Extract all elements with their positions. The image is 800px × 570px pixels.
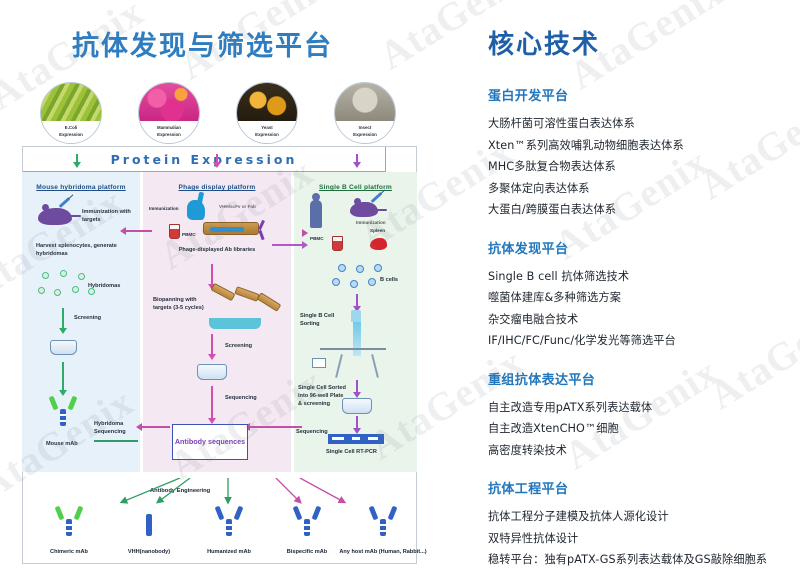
protein-expression-label: Protein Expression bbox=[111, 152, 298, 167]
antibody-sequences-box: Antibody sequences bbox=[172, 424, 248, 460]
circle-item-ecoli: E.Coli Expression bbox=[40, 82, 102, 144]
syringe-icon bbox=[371, 192, 383, 203]
phage-particle-icon bbox=[203, 222, 259, 235]
mouse-antibody-icon bbox=[50, 396, 76, 426]
step-label: Biopanning with targets (3-5 cycles) bbox=[153, 296, 205, 312]
cell-stream-icon bbox=[353, 322, 361, 356]
section-heading: 抗体工程平台 bbox=[488, 478, 788, 497]
arrow-down-purple bbox=[352, 154, 362, 168]
section-item: 大蛋白/跨膜蛋白表达体系 bbox=[488, 199, 788, 221]
step-label: Single Cell Sorted into 96-well Plate & … bbox=[298, 384, 348, 408]
syringe-icon bbox=[59, 197, 71, 208]
bispecific-antibody-icon bbox=[294, 506, 320, 536]
arrow-to-sequences-left bbox=[142, 426, 170, 428]
poster-root: 抗体发现与筛选平台 E.Coli Expression Mammalian bbox=[0, 0, 800, 570]
mouse-icon bbox=[38, 208, 72, 225]
phage-spike-icon bbox=[258, 230, 264, 240]
step-label: Spleen bbox=[370, 228, 385, 235]
product-label: Any host mAb (Human, Rabbit...) bbox=[336, 548, 430, 556]
step-label: Hybridoma Sequencing bbox=[94, 420, 140, 436]
step-label: VHH/scFv or Fab bbox=[219, 204, 256, 211]
bead-icon bbox=[234, 286, 259, 302]
column-title: Mouse hybridoma platform bbox=[22, 184, 140, 191]
left-panel-title: 抗体发现与筛选平台 bbox=[72, 24, 333, 63]
circle-label-sub: Expression bbox=[157, 132, 181, 139]
circle-label-sub: Expression bbox=[353, 132, 377, 139]
antibody-engineering-row: Antibody Engineering Chimeric mAb VHH(na… bbox=[30, 482, 425, 566]
section-item: Single B cell 抗体筛选技术 bbox=[488, 266, 788, 288]
step-label: Immunization bbox=[149, 206, 179, 213]
pbmc-tube-icon bbox=[332, 236, 343, 251]
section-protein-development: 蛋白开发平台 大肠杆菌可溶性蛋白表达体系 Xten™系列高效哺乳动物细胞表达体系… bbox=[488, 85, 788, 221]
screening-plate-icon bbox=[197, 364, 227, 380]
arrow-down-purple bbox=[352, 416, 362, 434]
step-label: Single Cell RT-PCR bbox=[326, 448, 377, 456]
expression-system-circles: E.Coli Expression Mammalian Expression bbox=[40, 82, 400, 144]
sorter-nozzle-icon bbox=[351, 310, 361, 322]
step-label: Immunization bbox=[356, 220, 386, 227]
chimeric-antibody-icon bbox=[56, 506, 82, 536]
section-antibody-engineering: 抗体工程平台 抗体工程分子建模及抗体人源化设计 双特异性抗体设计 稳转平台：独有… bbox=[488, 478, 788, 570]
section-recombinant-expression: 重组抗体表达平台 自主改造专用pATX系列表达载体 自主改造XtenCHO™细胞… bbox=[488, 369, 788, 462]
target-surface-icon bbox=[209, 318, 261, 329]
ecoli-photo-icon bbox=[41, 83, 101, 121]
pbmc-tube-icon bbox=[169, 224, 180, 239]
section-item: IF/IHC/FC/Func/化学发光等筛选平台 bbox=[488, 330, 788, 352]
section-item: 双特异性抗体设计 bbox=[488, 528, 788, 550]
spleen-icon bbox=[370, 238, 387, 250]
column-title: Single B Cell platform bbox=[294, 184, 417, 191]
detector-box-icon bbox=[312, 358, 326, 368]
arrow-down-magenta bbox=[212, 154, 222, 168]
step-label: Hybridomas bbox=[88, 282, 120, 290]
section-heading: 重组抗体表达平台 bbox=[488, 369, 788, 388]
column-single-b-cell: Single B Cell platform Immunization PBMC… bbox=[294, 172, 417, 472]
yeast-photo-icon bbox=[237, 83, 297, 121]
humanized-antibody-icon bbox=[216, 506, 242, 536]
section-antibody-discovery: 抗体发现平台 Single B cell 抗体筛选技术 噬菌体建库&多种筛选方案… bbox=[488, 238, 788, 352]
step-label: Sequencing bbox=[296, 428, 328, 436]
arrow-col1-to-col2 bbox=[126, 230, 152, 232]
section-heading: 蛋白开发平台 bbox=[488, 85, 788, 104]
step-label: B cells bbox=[380, 276, 398, 284]
circle-label-name: E.Coli bbox=[65, 125, 77, 132]
sorter-bar bbox=[320, 348, 386, 350]
section-item: 自主改造XtenCHO™细胞 bbox=[488, 418, 788, 440]
step-label: Single B Cell Sorting bbox=[300, 312, 348, 328]
section-item: 多聚体定向表达体系 bbox=[488, 178, 788, 200]
arrow-down-purple bbox=[352, 380, 362, 398]
left-panel: 抗体发现与筛选平台 E.Coli Expression Mammalian bbox=[0, 0, 455, 570]
circle-label-sub: Expression bbox=[59, 132, 83, 139]
section-item: 自主改造专用pATX系列表达载体 bbox=[488, 397, 788, 419]
step-label: Mouse mAb bbox=[46, 440, 78, 448]
step-label: Screening bbox=[74, 314, 101, 322]
section-heading: 抗体发现平台 bbox=[488, 238, 788, 257]
human-icon bbox=[310, 200, 322, 228]
arrow-down-green bbox=[58, 362, 68, 396]
section-item: 大肠杆菌可溶性蛋白表达体系 bbox=[488, 113, 788, 135]
step-label: Harvest splenocytes, generate hybridomas bbox=[36, 242, 132, 258]
section-item: 稳转平台：独有pATX-GS系列表达载体及GS敲除细胞系 bbox=[488, 549, 788, 570]
96-well-plate-icon bbox=[342, 398, 372, 414]
arrow-right-green bbox=[94, 440, 138, 442]
deflector-plate-icon bbox=[335, 354, 343, 378]
phage-spike-icon bbox=[258, 220, 265, 230]
circle-label-name: Yeast bbox=[261, 125, 272, 132]
step-label: Sequencing bbox=[225, 394, 257, 402]
arrow-down-green bbox=[72, 154, 82, 168]
arrow-down-magenta bbox=[207, 386, 217, 424]
mammalian-photo-icon bbox=[139, 83, 199, 121]
screening-plate-icon bbox=[50, 340, 77, 355]
right-panel-title: 核心技术 bbox=[488, 24, 788, 61]
circle-item-mammalian: Mammalian Expression bbox=[138, 82, 200, 144]
insect-photo-icon bbox=[335, 83, 395, 121]
bead-icon bbox=[257, 292, 282, 312]
circle-label-sub: Expression bbox=[255, 132, 279, 139]
circle-item-yeast: Yeast Expression bbox=[236, 82, 298, 144]
step-label: PBMC bbox=[182, 232, 196, 239]
arrow-to-sequences-right bbox=[250, 426, 302, 428]
vhh-antibody-icon bbox=[146, 514, 152, 536]
right-panel: 核心技术 蛋白开发平台 大肠杆菌可溶性蛋白表达体系 Xten™系列高效哺乳动物细… bbox=[470, 0, 800, 570]
arrow-col2-to-col3 bbox=[272, 244, 302, 246]
section-item: 高密度转染技术 bbox=[488, 440, 788, 462]
circle-item-insect: Insect Expression bbox=[334, 82, 396, 144]
arrow-down-magenta bbox=[207, 334, 217, 360]
circle-label-name: Insect bbox=[359, 125, 372, 132]
arrow-down-green bbox=[58, 308, 68, 334]
engineering-arrows bbox=[30, 478, 425, 508]
section-item: Xten™系列高效哺乳动物细胞表达体系 bbox=[488, 135, 788, 157]
column-mouse-hybridoma: Mouse hybridoma platform Immunization wi… bbox=[22, 172, 140, 472]
step-label: PBMC bbox=[310, 236, 324, 243]
section-item: 杂交瘤电融合技术 bbox=[488, 309, 788, 331]
arrow-col3-to-col2 bbox=[278, 232, 302, 234]
section-item: 噬菌体建库&多种筛选方案 bbox=[488, 287, 788, 309]
section-item: 抗体工程分子建模及抗体人源化设计 bbox=[488, 506, 788, 528]
column-title: Phage display platform bbox=[143, 184, 291, 191]
rt-pcr-gel-icon bbox=[328, 434, 384, 444]
step-label: Phage-displayed Ab libraries bbox=[143, 246, 291, 254]
bead-icon bbox=[211, 283, 236, 301]
step-label: Immunization with targets bbox=[82, 208, 138, 224]
mouse-icon bbox=[350, 202, 378, 217]
section-item: MHC多肽复合物表达体系 bbox=[488, 156, 788, 178]
llama-icon bbox=[187, 200, 205, 220]
circle-label-name: Mammalian bbox=[157, 125, 181, 132]
deflector-plate-icon bbox=[371, 354, 379, 378]
any-host-antibody-icon bbox=[370, 506, 396, 536]
step-label: Screening bbox=[225, 342, 252, 350]
